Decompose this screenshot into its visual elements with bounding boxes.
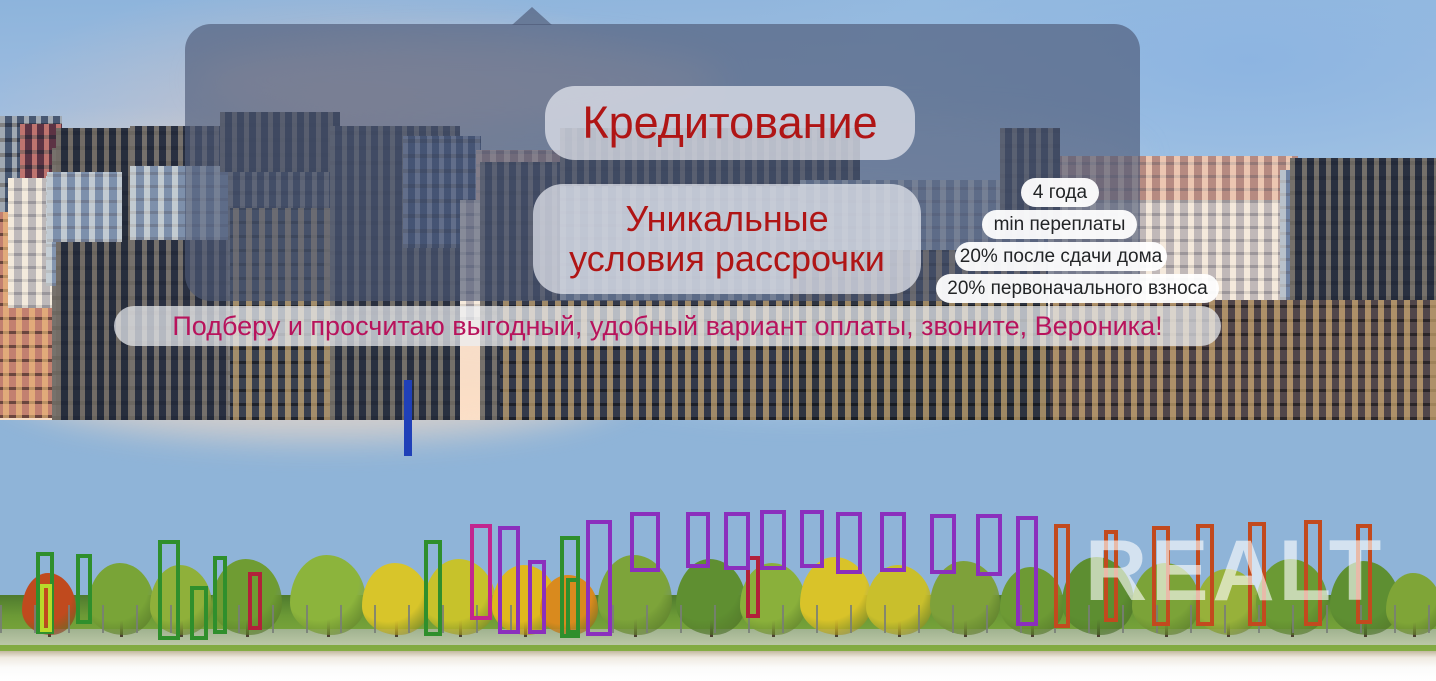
- subtitle-line-2: условия рассрочки: [569, 239, 885, 279]
- facade-accent-frame: [630, 512, 660, 572]
- subtitle-line-1: Уникальные: [625, 199, 828, 239]
- facade-accent-frame: [1054, 524, 1070, 628]
- promo-banner-image: REALT Кредитование Уникальные условия ра…: [0, 0, 1436, 681]
- page-title: Кредитование: [545, 86, 915, 160]
- facade-accent-frame: [424, 540, 442, 636]
- facade-accent-frame: [724, 512, 750, 570]
- facade-accent-frame: [470, 524, 492, 620]
- facade-accent-frame: [40, 584, 52, 632]
- term-badge-overpayment: min переплаты: [982, 210, 1137, 239]
- offer-panel: Кредитование Уникальные условия рассрочк…: [185, 24, 1140, 301]
- term-badge-after-handover: 20% после сдачи дома: [955, 242, 1167, 271]
- facade-accent-frame: [190, 586, 208, 640]
- facade-accent-frame: [880, 512, 906, 572]
- facade-accent-frame: [566, 578, 580, 634]
- facade-accent-frame: [800, 510, 824, 568]
- facade-accent-frame: [586, 520, 612, 636]
- term-badge-downpayment: 20% первоначального взноса: [936, 274, 1219, 303]
- term-badge-duration: 4 года: [1021, 178, 1099, 207]
- facade-accent-frame: [498, 526, 520, 634]
- facade-accent-frame: [404, 380, 412, 456]
- facade-accent-frame: [248, 572, 262, 630]
- building-mid-left-slate: [47, 172, 122, 242]
- facade-accent-frame: [528, 560, 546, 634]
- facade-accent-frame: [158, 540, 180, 640]
- facade-accent-frame: [930, 514, 956, 574]
- facade-accent-frame: [976, 514, 1002, 576]
- facade-accent-frame: [760, 510, 786, 570]
- subtitle-plate: Уникальные условия рассрочки: [533, 184, 921, 294]
- residential-complex: [0, 351, 1436, 681]
- facade-accent-frame: [76, 554, 92, 624]
- speech-bubble-tail: [512, 7, 552, 25]
- road: [0, 651, 1436, 681]
- facade-accent-frame: [686, 512, 710, 568]
- facade-accent-frame: [213, 556, 227, 634]
- facade-accent-frame: [836, 512, 862, 574]
- facade-accent-frame: [1016, 516, 1038, 626]
- realt-watermark: REALT: [1085, 528, 1385, 614]
- contact-banner: Подберу и просчитаю выгодный, удобный ва…: [114, 306, 1221, 346]
